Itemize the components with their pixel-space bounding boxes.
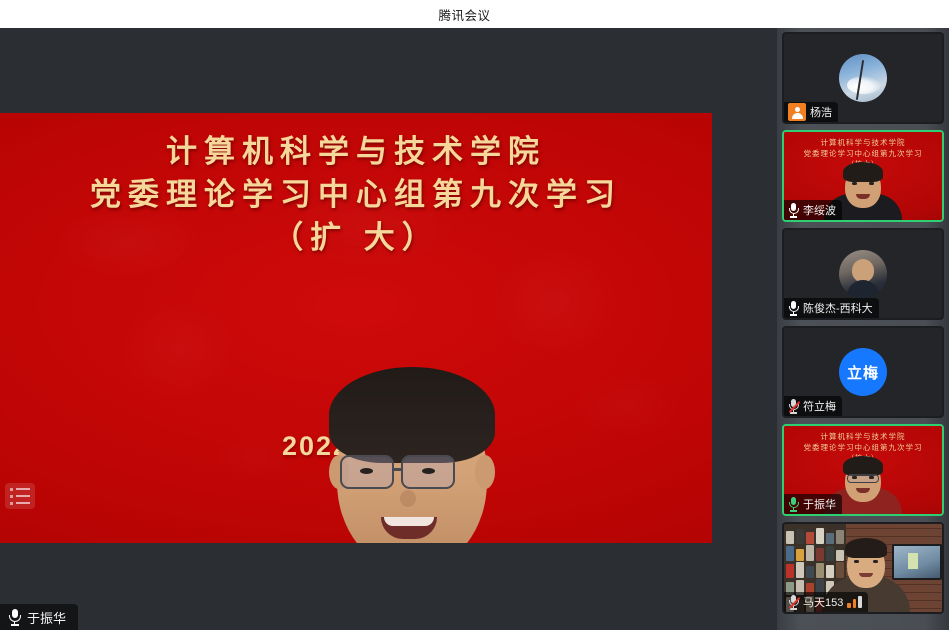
avatar: 立梅	[839, 348, 887, 396]
stage-speaker-name: 于振华	[27, 608, 66, 627]
avatar	[839, 250, 887, 298]
participant-name-label: 符立梅	[784, 396, 842, 416]
microphone-icon	[788, 301, 799, 315]
microphone-icon	[8, 609, 21, 626]
participant-name-label: 马天153	[784, 592, 868, 612]
thumb-slide-line-2: 党委理论学习中心组第九次学习	[784, 149, 942, 160]
thumb-slide-line-2: 党委理论学习中心组第九次学习	[784, 443, 942, 454]
avatar	[839, 54, 887, 102]
avatar-badge-icon	[788, 103, 806, 121]
participant-name: 杨浩	[810, 104, 832, 120]
participant-tile-fulimei[interactable]: 立梅 符立梅	[782, 326, 944, 418]
slide-title-line-3: （扩 大）	[0, 217, 712, 260]
participant-tile-chenjunjie[interactable]: 陈俊杰-西科大	[782, 228, 944, 320]
participant-name-label: 于振华	[784, 494, 842, 514]
signal-bars-icon	[847, 596, 862, 608]
microphone-icon	[788, 203, 799, 217]
presentation-slide: 计算机科学与技术学院 党委理论学习中心组第九次学习 （扩 大） 2022	[0, 113, 712, 543]
list-view-icon[interactable]	[5, 483, 35, 509]
participant-tile-yanghao[interactable]: 杨浩	[782, 32, 944, 124]
letterbox-bottom	[0, 543, 712, 630]
window-titlebar: 腾讯会议	[0, 0, 949, 28]
participant-name: 马天153	[803, 594, 843, 610]
slide-title-line-2: 党委理论学习中心组第九次学习	[0, 174, 712, 217]
shared-screen-video[interactable]: 计算机科学与技术学院 党委理论学习中心组第九次学习 （扩 大） 2022	[0, 28, 712, 630]
participant-name-label: 李绥波	[784, 200, 842, 220]
microphone-muted-icon	[788, 399, 799, 413]
participant-tile-lisuibo[interactable]: 计算机科学与技术学院 党委理论学习中心组第九次学习 （扩大） 2022 李	[782, 130, 944, 222]
microphone-icon	[788, 497, 799, 511]
participant-tile-yuzhenhua[interactable]: 计算机科学与技术学院 党委理论学习中心组第九次学习 （扩大） 2022	[782, 424, 944, 516]
main-video-stage[interactable]: 计算机科学与技术学院 党委理论学习中心组第九次学习 （扩 大） 2022	[0, 28, 777, 630]
participant-name: 陈俊杰-西科大	[803, 300, 873, 316]
participant-name-label: 杨浩	[784, 102, 838, 122]
participant-name-label: 陈俊杰-西科大	[784, 298, 879, 318]
slide-title-line-1: 计算机科学与技术学院	[0, 131, 712, 174]
meeting-window: 计算机科学与技术学院 党委理论学习中心组第九次学习 （扩 大） 2022	[0, 28, 949, 630]
letterbox-top	[0, 28, 712, 113]
microphone-muted-icon	[788, 595, 799, 609]
slide-title-block: 计算机科学与技术学院 党委理论学习中心组第九次学习 （扩 大）	[0, 131, 712, 259]
thumb-slide-line-1: 计算机科学与技术学院	[784, 138, 942, 149]
participant-name: 符立梅	[803, 398, 836, 414]
participant-tile-matian153[interactable]: 马天153	[782, 522, 944, 614]
window-title: 腾讯会议	[438, 5, 490, 24]
thumb-slide-line-1: 计算机科学与技术学院	[784, 432, 942, 443]
participant-name: 于振华	[803, 496, 836, 512]
participant-thumbnail-strip[interactable]: 杨浩 计算机科学与技术学院 党委理论学习中心组第九次学习 （扩大） 2022	[777, 28, 949, 630]
participant-name: 李绥波	[803, 202, 836, 218]
presenter-webcam-overlay	[296, 351, 526, 543]
stage-name-label: 于振华	[0, 604, 78, 630]
